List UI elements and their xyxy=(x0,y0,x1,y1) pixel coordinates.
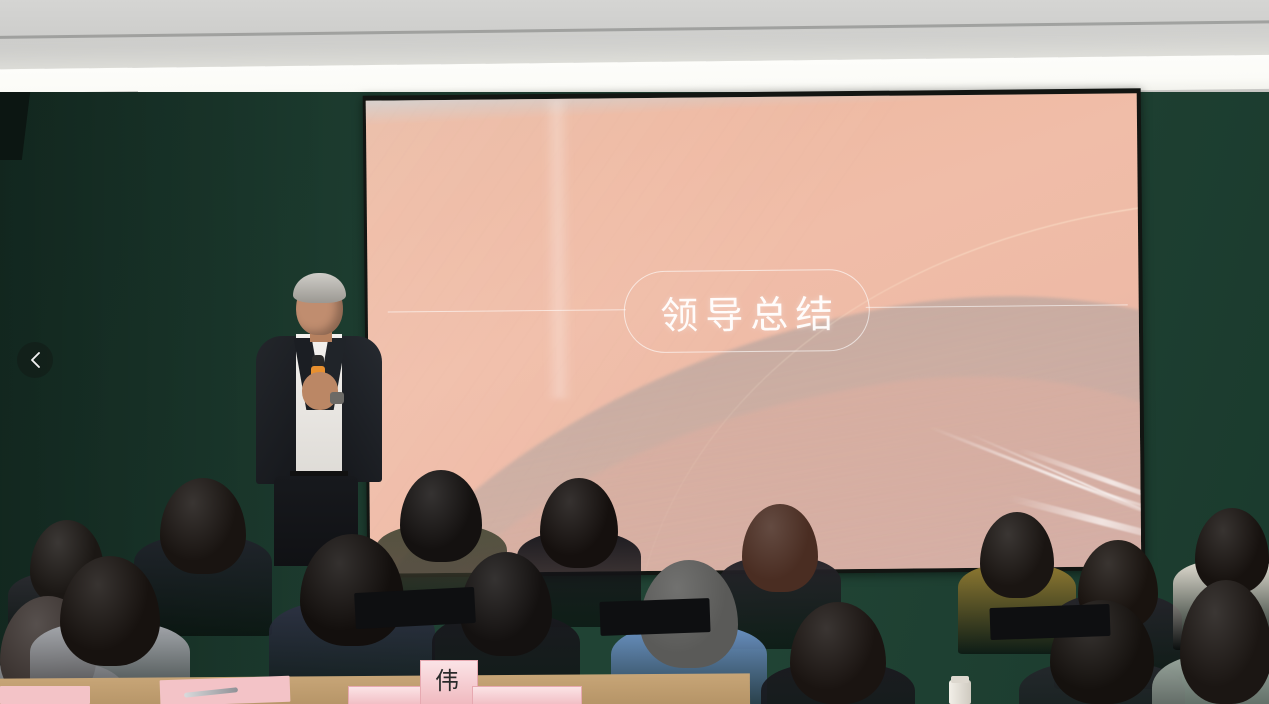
speaker-watch xyxy=(330,392,344,404)
audience-head xyxy=(980,512,1054,598)
audience-head xyxy=(160,478,246,574)
audience-person xyxy=(160,478,246,574)
audience-person xyxy=(742,504,818,592)
slide-title: 领导总结 xyxy=(653,283,841,340)
projection-screen: 领导总结 xyxy=(366,93,1142,573)
audience-head xyxy=(400,470,482,562)
audience-head xyxy=(300,534,404,646)
chevron-left-icon xyxy=(29,351,42,369)
conference-room-photo: 领导总结 伟 xyxy=(0,0,1269,704)
audience-person xyxy=(60,556,160,666)
thermos-cap xyxy=(951,676,969,683)
audience-person xyxy=(1180,580,1269,704)
audience-head xyxy=(60,556,160,666)
audience-person xyxy=(980,512,1054,598)
table-paper xyxy=(0,686,90,704)
name-placard-standing: 伟 xyxy=(420,660,478,704)
laptop xyxy=(599,598,710,636)
audience-person xyxy=(790,602,886,704)
audience-head xyxy=(742,504,818,592)
prev-image-button[interactable] xyxy=(17,342,53,378)
screen-glare xyxy=(544,99,573,399)
thermos-bottle xyxy=(949,680,971,704)
speaker-hands xyxy=(302,372,338,410)
audience-head xyxy=(790,602,886,704)
name-placard xyxy=(472,686,582,704)
slide-title-pill: 领导总结 xyxy=(623,269,870,353)
placard-character: 伟 xyxy=(435,669,459,693)
audience-person xyxy=(400,470,482,562)
audience-person xyxy=(300,534,404,646)
laptop xyxy=(354,587,476,629)
audience-head xyxy=(1180,580,1269,704)
laptop xyxy=(989,604,1110,640)
